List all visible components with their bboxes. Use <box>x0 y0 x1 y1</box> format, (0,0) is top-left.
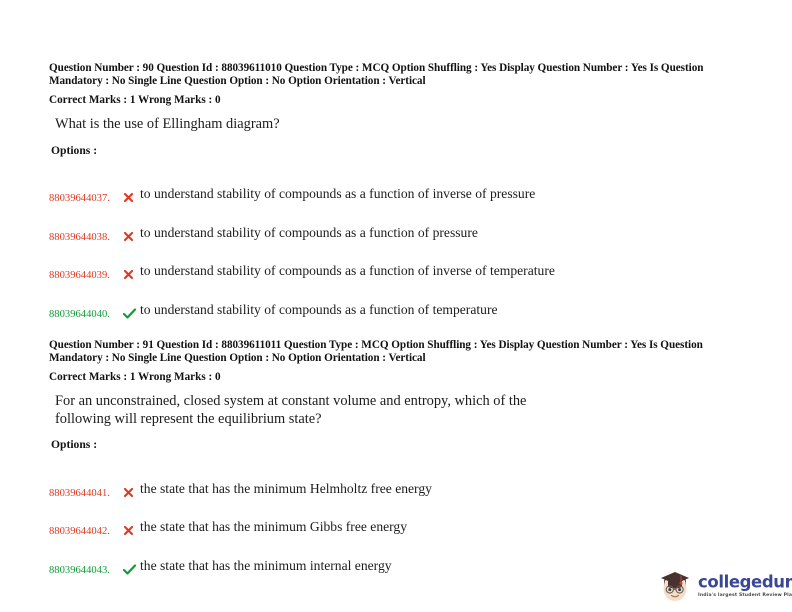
option-row[interactable]: 88039644039. to understand stability of … <box>49 243 746 282</box>
options-label: Options : <box>51 144 746 157</box>
watermark-text: collegedunia® India's largest Student Re… <box>698 571 792 599</box>
wrong-answer-icon <box>123 269 134 280</box>
option-row[interactable]: 88039644040. to understand stability of … <box>49 281 746 320</box>
wrong-answer-icon <box>123 192 134 203</box>
wrong-answer-icon <box>123 231 134 242</box>
question-text: For an unconstrained, closed system at c… <box>55 393 585 428</box>
document-page: Question Number : 90 Question Id : 88039… <box>0 0 792 612</box>
options-list: 88039644037. to understand stability of … <box>49 166 746 320</box>
option-text: to understand stability of compounds as … <box>140 263 555 279</box>
watermark-tagline: India's largest Student Review Platform <box>698 592 792 599</box>
option-text: the state that has the minimum internal … <box>140 558 392 574</box>
wrong-answer-icon <box>123 487 134 498</box>
option-row[interactable]: 88039644037. to understand stability of … <box>49 166 746 205</box>
option-id: 88039644037. <box>49 193 110 204</box>
option-row[interactable]: 88039644043. the state that has the mini… <box>49 537 746 576</box>
option-id: 88039644039. <box>49 270 110 281</box>
question-marks-line: Correct Marks : 1 Wrong Marks : 0 <box>49 371 746 384</box>
question-meta-line: Question Number : 91 Question Id : 88039… <box>49 339 746 366</box>
option-id: 88039644043. <box>49 565 110 576</box>
option-id: 88039644042. <box>49 526 110 537</box>
question-text: What is the use of Ellingham diagram? <box>55 116 585 134</box>
option-text: to understand stability of compounds as … <box>140 186 535 202</box>
options-list: 88039644041. the state that has the mini… <box>49 460 746 576</box>
option-id: 88039644038. <box>49 232 110 243</box>
question-marks-line: Correct Marks : 1 Wrong Marks : 0 <box>49 94 746 107</box>
option-text: to understand stability of compounds as … <box>140 302 498 318</box>
graduate-mascot-icon <box>655 565 695 605</box>
option-text: the state that has the minimum Gibbs fre… <box>140 519 407 535</box>
watermark-brand: collegedunia® <box>698 571 792 591</box>
option-text: the state that has the minimum Helmholtz… <box>140 481 432 497</box>
option-row[interactable]: 88039644038. to understand stability of … <box>49 204 746 243</box>
options-label: Options : <box>51 438 746 451</box>
option-row[interactable]: 88039644042. the state that has the mini… <box>49 499 746 538</box>
collegedunia-watermark: collegedunia® India's largest Student Re… <box>655 563 787 607</box>
correct-answer-icon <box>123 564 134 575</box>
question-block: Question Number : 91 Question Id : 88039… <box>49 339 746 576</box>
correct-answer-icon <box>123 308 134 319</box>
option-id: 88039644041. <box>49 488 110 499</box>
question-block: Question Number : 90 Question Id : 88039… <box>49 62 746 320</box>
watermark-brand-label: collegedunia <box>698 573 792 592</box>
option-id: 88039644040. <box>49 309 110 320</box>
option-text: to understand stability of compounds as … <box>140 225 478 241</box>
option-row[interactable]: 88039644041. the state that has the mini… <box>49 460 746 499</box>
wrong-answer-icon <box>123 525 134 536</box>
question-meta-line: Question Number : 90 Question Id : 88039… <box>49 62 746 89</box>
